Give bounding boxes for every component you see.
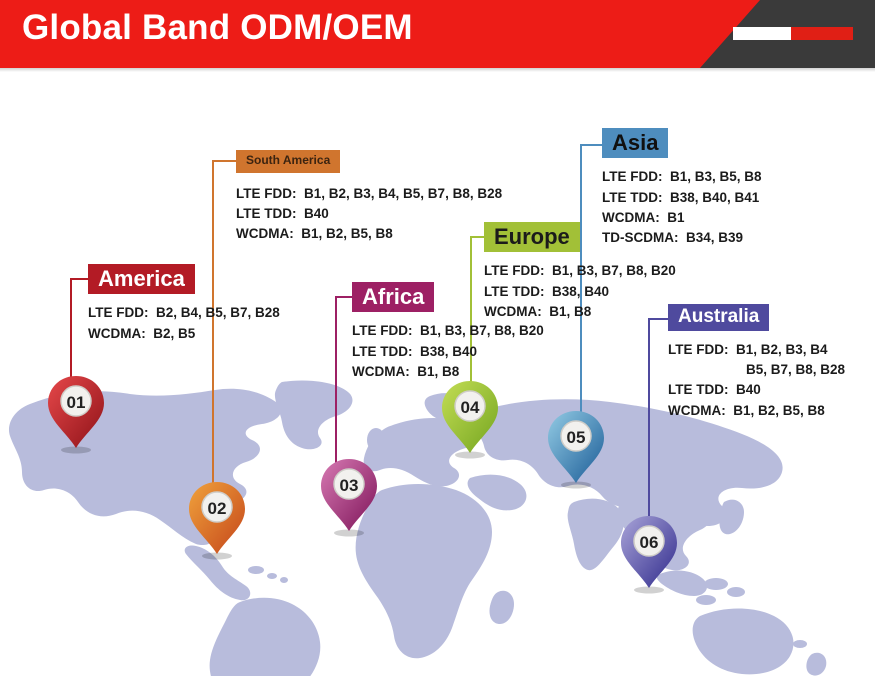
- band-tech: LTE TDD:: [484, 284, 545, 299]
- map-pin-05[interactable]: 05: [544, 407, 608, 491]
- band-values: B38, B40: [420, 344, 477, 359]
- region-label-europe: Europe: [484, 222, 580, 252]
- band-tech: LTE FDD:: [602, 169, 663, 184]
- band-row: LTE FDD: B1, B2, B3, B4: [668, 340, 845, 360]
- band-tech: WCDMA:: [88, 326, 146, 341]
- pin-number-label: 04: [461, 398, 480, 417]
- band-row: WCDMA: B2, B5: [88, 324, 280, 344]
- band-tech: WCDMA:: [484, 304, 542, 319]
- region-bands-africa: LTE FDD: B1, B3, B7, B8, B20 LTE TDD: B3…: [352, 321, 544, 382]
- region-block-america: America LTE FDD: B2, B4, B5, B7, B28 WCD…: [88, 264, 280, 344]
- region-block-australia: Australia LTE FDD: B1, B2, B3, B4 B5, B7…: [668, 304, 845, 421]
- band-tech: WCDMA:: [236, 226, 294, 241]
- region-bands-asia: LTE FDD: B1, B3, B5, B8 LTE TDD: B38, B4…: [602, 167, 762, 248]
- band-values: B1, B8: [549, 304, 591, 319]
- region-label-south-america: South America: [236, 150, 340, 173]
- slide-root: Global Band ODM/OEM: [0, 0, 875, 676]
- region-bands-america: LTE FDD: B2, B4, B5, B7, B28 WCDMA: B2, …: [88, 303, 280, 344]
- band-row: LTE TDD: B38, B40: [484, 282, 676, 302]
- band-tech: LTE TDD:: [352, 344, 413, 359]
- band-row: LTE TDD: B40: [236, 204, 502, 224]
- band-row: LTE FDD: B2, B4, B5, B7, B28: [88, 303, 280, 323]
- band-row: LTE TDD: B38, B40: [352, 342, 544, 362]
- map-pin-02[interactable]: 02: [185, 478, 249, 562]
- region-label-asia: Asia: [602, 128, 668, 158]
- band-values: B1, B3, B7, B8, B20: [552, 263, 676, 278]
- band-tech: LTE FDD:: [88, 305, 149, 320]
- connector-africa-v: [335, 296, 337, 464]
- page-title: Global Band ODM/OEM: [22, 8, 413, 48]
- band-values: B2, B5: [153, 326, 195, 341]
- band-values: B1, B2, B3, B4, B5, B7, B8, B28: [304, 186, 502, 201]
- region-label-africa: Africa: [352, 282, 434, 312]
- band-tech: LTE FDD:: [236, 186, 297, 201]
- band-values: B34, B39: [686, 230, 743, 245]
- band-row-continuation: B5, B7, B8, B28: [668, 360, 845, 380]
- band-row: LTE FDD: B1, B3, B5, B8: [602, 167, 762, 187]
- band-row: TD-SCDMA: B34, B39: [602, 228, 762, 248]
- band-values: B1, B3, B7, B8, B20: [420, 323, 544, 338]
- band-tech: WCDMA:: [668, 403, 726, 418]
- pin-number-label: 01: [67, 393, 86, 412]
- region-block-south-america: South America LTE FDD: B1, B2, B3, B4, B…: [236, 150, 502, 245]
- band-row: LTE FDD: B1, B3, B7, B8, B20: [484, 261, 676, 281]
- band-row: LTE FDD: B1, B3, B7, B8, B20: [352, 321, 544, 341]
- band-values: B40: [304, 206, 329, 221]
- band-tech: LTE FDD:: [668, 342, 729, 357]
- region-label-australia: Australia: [668, 304, 769, 331]
- region-bands-europe: LTE FDD: B1, B3, B7, B8, B20 LTE TDD: B3…: [484, 261, 676, 322]
- band-values: B1, B2, B5, B8: [301, 226, 393, 241]
- connector-south-america-h: [212, 160, 236, 162]
- region-block-asia: Asia LTE FDD: B1, B3, B5, B8 LTE TDD: B3…: [602, 128, 762, 248]
- logo-bar-red: [791, 27, 853, 40]
- band-row: WCDMA: B1: [602, 208, 762, 228]
- logo-bars-icon: [733, 27, 853, 40]
- band-values: B1, B2, B5, B8: [733, 403, 825, 418]
- header-shadow: [0, 68, 875, 72]
- band-tech: LTE FDD:: [484, 263, 545, 278]
- band-row: LTE TDD: B38, B40, B41: [602, 188, 762, 208]
- pin-number-label: 06: [640, 533, 659, 552]
- band-tech: LTE TDD:: [668, 382, 729, 397]
- band-row: WCDMA: B1, B2, B5, B8: [236, 224, 502, 244]
- pin-number-label: 03: [340, 476, 359, 495]
- band-values: B1, B2, B3, B4: [736, 342, 828, 357]
- region-bands-australia: LTE FDD: B1, B2, B3, B4 B5, B7, B8, B28 …: [668, 340, 845, 421]
- map-pin-03[interactable]: 03: [317, 455, 381, 539]
- band-row: LTE FDD: B1, B2, B3, B4, B5, B7, B8, B28: [236, 184, 502, 204]
- band-row: WCDMA: B1, B8: [484, 302, 676, 322]
- pin-number-label: 05: [567, 428, 586, 447]
- logo-bar-white: [733, 27, 791, 40]
- band-tech: TD-SCDMA:: [602, 230, 679, 245]
- map-pin-06[interactable]: 06: [617, 512, 681, 596]
- band-tech: LTE TDD:: [236, 206, 297, 221]
- band-tech: LTE FDD:: [352, 323, 413, 338]
- pin-number-label: 02: [208, 499, 227, 518]
- band-tech: WCDMA:: [352, 364, 410, 379]
- connector-australia-v: [648, 318, 650, 532]
- band-row: LTE TDD: B40: [668, 380, 845, 400]
- band-values: B40: [736, 382, 761, 397]
- band-tech: LTE TDD:: [602, 190, 663, 205]
- band-values: B1, B3, B5, B8: [670, 169, 762, 184]
- band-values: B38, B40: [552, 284, 609, 299]
- band-row: WCDMA: B1, B2, B5, B8: [668, 401, 845, 421]
- band-values: B38, B40, B41: [670, 190, 759, 205]
- band-values: B1: [667, 210, 684, 225]
- band-tech: WCDMA:: [602, 210, 660, 225]
- map-pin-04[interactable]: 04: [438, 377, 502, 461]
- region-label-america: America: [88, 264, 195, 294]
- header-bar: Global Band ODM/OEM: [0, 0, 875, 68]
- band-values: B2, B4, B5, B7, B28: [156, 305, 280, 320]
- map-pin-01[interactable]: 01: [44, 372, 108, 456]
- region-bands-south-america: LTE FDD: B1, B2, B3, B4, B5, B7, B8, B28…: [236, 184, 502, 245]
